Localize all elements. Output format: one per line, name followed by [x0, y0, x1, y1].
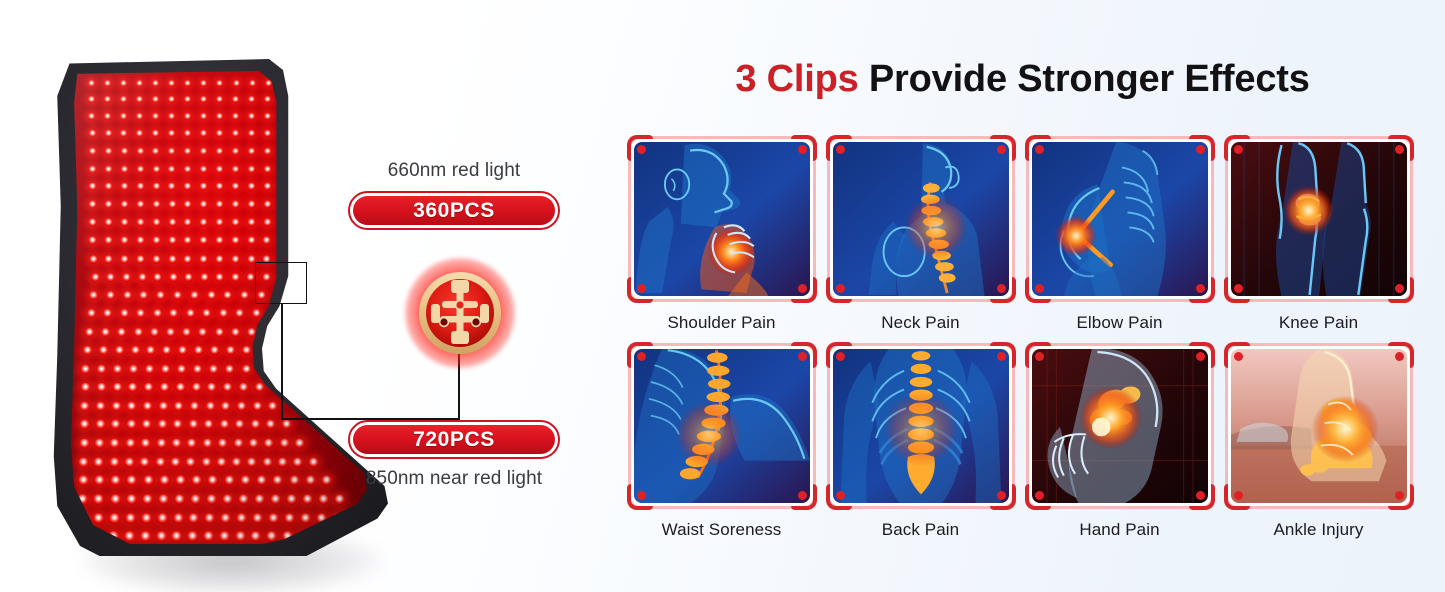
- pain-card-label: Knee Pain: [1225, 313, 1413, 333]
- pain-card-label: Ankle Injury: [1225, 520, 1413, 540]
- pain-card-knee-pain[interactable]: Knee Pain: [1225, 136, 1413, 333]
- hand-wrist-anatomy-photo: [1032, 349, 1208, 503]
- corner-dot-br: [798, 284, 807, 293]
- corner-dot-br: [997, 491, 1006, 500]
- badge-fill: 360PCS: [353, 196, 555, 225]
- led-chip-icon: [405, 258, 515, 368]
- spec-660nm-count-badge: 360PCS: [348, 191, 560, 230]
- photo-frame: [827, 343, 1015, 509]
- pain-card-shoulder-pain[interactable]: Shoulder Pain: [628, 136, 816, 333]
- corner-dot-tl: [637, 352, 646, 361]
- corner-dot-tr: [798, 145, 807, 154]
- corner-dot-br: [798, 491, 807, 500]
- corner-dot-bl: [637, 284, 646, 293]
- product-showcase-panel: 660nm red light 360PCS 720PCS 850nm near…: [0, 0, 600, 592]
- page-title: 3 Clips Provide Stronger Effects: [600, 58, 1445, 101]
- benefits-panel: 3 Clips Provide Stronger Effects Shoulde…: [600, 0, 1445, 592]
- pain-card-ankle-injury[interactable]: Ankle Injury: [1225, 343, 1413, 540]
- photo-frame: [628, 343, 816, 509]
- callout-leader-line-vertical: [281, 304, 283, 420]
- corner-dot-tr: [1196, 145, 1205, 154]
- pain-card-label: Elbow Pain: [1026, 313, 1214, 333]
- spec-660nm-caption: 660nm red light: [339, 160, 569, 182]
- spec-850nm-caption: 850nm near red light: [339, 468, 569, 490]
- corner-dot-tr: [1196, 352, 1205, 361]
- corner-dot-bl: [637, 491, 646, 500]
- corner-dot-tl: [1035, 145, 1044, 154]
- elbow-anatomy-photo: [1032, 142, 1208, 296]
- photo-frame: [827, 136, 1015, 302]
- spec-660nm-count-label: 360PCS: [413, 199, 495, 223]
- led-pad-product-image: [52, 56, 402, 581]
- photo-frame: [1026, 136, 1214, 302]
- page-title-rest: Provide Stronger Effects: [869, 58, 1310, 100]
- photo-frame: [628, 136, 816, 302]
- shoulder-anatomy-photo: [634, 142, 810, 296]
- photo-frame: [1225, 343, 1413, 509]
- corner-dot-br: [1196, 284, 1205, 293]
- pain-card-neck-pain[interactable]: Neck Pain: [827, 136, 1015, 333]
- spec-850nm: 720PCS 850nm near red light: [339, 420, 569, 490]
- neck-spine-anatomy-photo: [833, 142, 1009, 296]
- knee-anatomy-photo: [1231, 142, 1407, 296]
- product-feature-banner: 660nm red light 360PCS 720PCS 850nm near…: [0, 0, 1445, 592]
- corner-dot-bl: [836, 491, 845, 500]
- corner-dot-tr: [997, 145, 1006, 154]
- spec-660nm: 660nm red light 360PCS: [339, 160, 569, 230]
- corner-dot-br: [1196, 491, 1205, 500]
- lower-back-anatomy-photo: [833, 349, 1009, 503]
- corner-dot-tr: [997, 352, 1006, 361]
- pain-card-label: Hand Pain: [1026, 520, 1214, 540]
- corner-dot-tl: [1234, 145, 1243, 154]
- corner-dot-br: [997, 284, 1006, 293]
- spec-850nm-count-badge: 720PCS: [348, 420, 560, 459]
- corner-dot-tl: [836, 352, 845, 361]
- pain-card-elbow-pain[interactable]: Elbow Pain: [1026, 136, 1214, 333]
- pain-card-back-pain[interactable]: Back Pain: [827, 343, 1015, 540]
- led-cluster-callout-box: [255, 262, 307, 304]
- pain-card-hand-pain[interactable]: Hand Pain: [1026, 343, 1214, 540]
- pain-area-grid: Shoulder PainNeck PainElbow PainKnee Pai…: [610, 136, 1430, 540]
- led-chip-diagram: [418, 271, 502, 355]
- corner-dot-bl: [1035, 284, 1044, 293]
- pain-card-waist-soreness[interactable]: Waist Soreness: [628, 343, 816, 540]
- waist-spine-anatomy-photo: [634, 349, 810, 503]
- corner-dot-br: [1395, 491, 1404, 500]
- corner-dot-tr: [1395, 352, 1404, 361]
- badge-fill: 720PCS: [353, 425, 555, 454]
- photo-frame: [1026, 343, 1214, 509]
- corner-dot-bl: [836, 284, 845, 293]
- corner-dot-tl: [1035, 352, 1044, 361]
- corner-dot-bl: [1234, 284, 1243, 293]
- corner-dot-tl: [637, 145, 646, 154]
- pain-card-label: Waist Soreness: [628, 520, 816, 540]
- corner-dot-tl: [1234, 352, 1243, 361]
- pain-card-label: Back Pain: [827, 520, 1015, 540]
- corner-dot-bl: [1035, 491, 1044, 500]
- pain-card-label: Neck Pain: [827, 313, 1015, 333]
- pain-card-label: Shoulder Pain: [628, 313, 816, 333]
- corner-dot-tr: [798, 352, 807, 361]
- photo-frame: [1225, 136, 1413, 302]
- corner-dot-br: [1395, 284, 1404, 293]
- ankle-foot-anatomy-photo: [1231, 349, 1407, 503]
- corner-dot-tl: [836, 145, 845, 154]
- corner-dot-tr: [1395, 145, 1404, 154]
- page-title-highlight: 3 Clips: [735, 58, 858, 100]
- corner-dot-bl: [1234, 491, 1243, 500]
- spec-850nm-count-label: 720PCS: [413, 428, 495, 452]
